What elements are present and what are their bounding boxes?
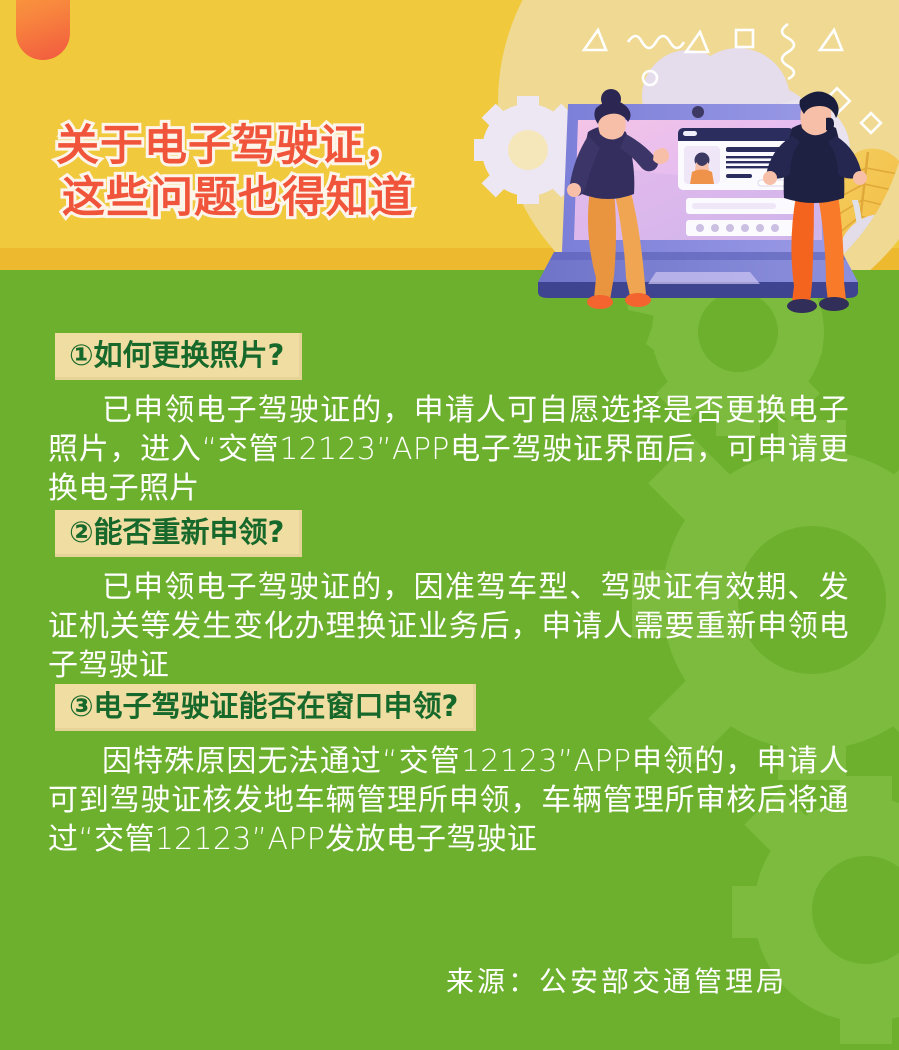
content-area: ①如何更换照片? 已申领电子驾驶证的，申请人可自愿选择是否更换电子照片，进入“交… (0, 270, 899, 1050)
qa-section-2: ②能否重新申领? 已申领电子驾驶证的，因准驾车型、驾驶证有效期、发证机关等发生变… (0, 510, 899, 685)
bookmark-tab-decoration (16, 0, 70, 60)
qa-body-3: 因特殊原因无法通过“交管12123”APP申领的，申请人可到驾驶证核发地车辆管理… (48, 742, 849, 859)
qa-section-1: ①如何更换照片? 已申领电子驾驶证的，申请人可自愿选择是否更换电子照片，进入“交… (0, 333, 899, 508)
qa-body-2: 已申领电子驾驶证的，因准驾车型、驾驶证有效期、发证机关等发生变化办理换证业务后，… (48, 568, 849, 685)
title-line-1: 关于电子驾驶证， (56, 120, 414, 172)
qa-heading-3: ③电子驾驶证能否在窗口申领? (69, 690, 458, 723)
qa-banner-1: ①如何更换照片? (55, 333, 302, 380)
qa-heading-2: ②能否重新申领? (69, 516, 284, 549)
qa-section-3: ③电子驾驶证能否在窗口申领? 因特殊原因无法通过“交管12123”APP申领的，… (0, 684, 899, 859)
qa-body-1: 已申领电子驾驶证的，申请人可自愿选择是否更换电子照片，进入“交管12123”AP… (48, 391, 849, 508)
source-attribution: 来源：公安部交通管理局 (446, 960, 787, 1000)
page-title: 关于电子驾驶证， 这些问题也得知道 (56, 120, 414, 225)
title-line-2: 这些问题也得知道 (62, 172, 414, 224)
qa-banner-3: ③电子驾驶证能否在窗口申领? (55, 684, 476, 731)
infographic-poster: 关于电子驾驶证， 这些问题也得知道 ①如何更换照片? 已申领电子驾驶证的，申请人… (0, 0, 899, 1050)
qa-banner-2: ②能否重新申领? (55, 510, 302, 557)
qa-heading-1: ①如何更换照片? (69, 339, 284, 372)
